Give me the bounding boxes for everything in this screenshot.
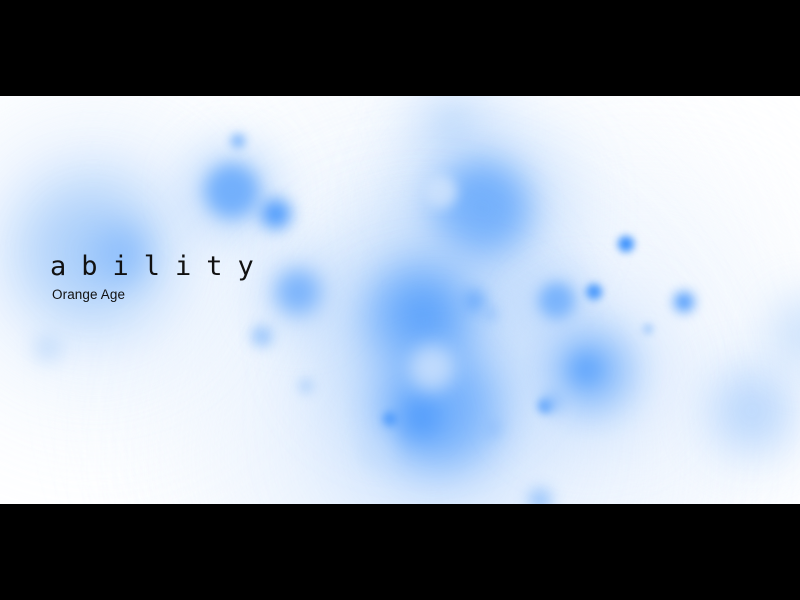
bokeh-circle-mid-dot-e (483, 419, 501, 437)
title-card-stage: ability Orange Age (0, 0, 800, 600)
bokeh-circle-right-edge-cut (772, 300, 800, 368)
bokeh-circle-right-med-core (570, 353, 602, 385)
bokeh-circle-upper-mid-small (261, 199, 291, 229)
bokeh-circle-mid-dot-a (463, 290, 485, 312)
letterbox-bar-bottom (0, 504, 800, 600)
bokeh-circle-right-sharp-c (618, 236, 634, 252)
bokeh-circle-bottom-dot-d (362, 437, 390, 465)
bokeh-circle-lower-hero-knot (398, 396, 442, 440)
bokeh-circle-left-mid-halo (258, 252, 338, 332)
bokeh-circle-left-small-faint (35, 335, 61, 361)
bokeh-circle-bottom-dot-b (299, 379, 313, 393)
bokeh-circle-top-ring-bokeh (423, 175, 457, 209)
bokeh-circle-bottom-dot-a (529, 489, 551, 504)
bokeh-circle-right-sharp-d (674, 292, 694, 312)
bokeh-circle-right-sharp-b (586, 284, 602, 300)
bokeh-circle-lower-ring-top (409, 345, 455, 391)
bokeh-circle-right-edge-pale (712, 371, 792, 451)
page-title: ability (50, 252, 269, 282)
letterbox-bar-top (0, 0, 800, 96)
subtitle: Orange Age (52, 287, 269, 303)
title-block: ability Orange Age (50, 252, 269, 303)
bokeh-circle-bottom-dot-c (252, 326, 272, 346)
bokeh-circle-mid-dot-c (383, 412, 397, 426)
bokeh-circle-tiny-dot-a (231, 134, 245, 148)
bokeh-circle-mid-dot-b (483, 307, 497, 321)
